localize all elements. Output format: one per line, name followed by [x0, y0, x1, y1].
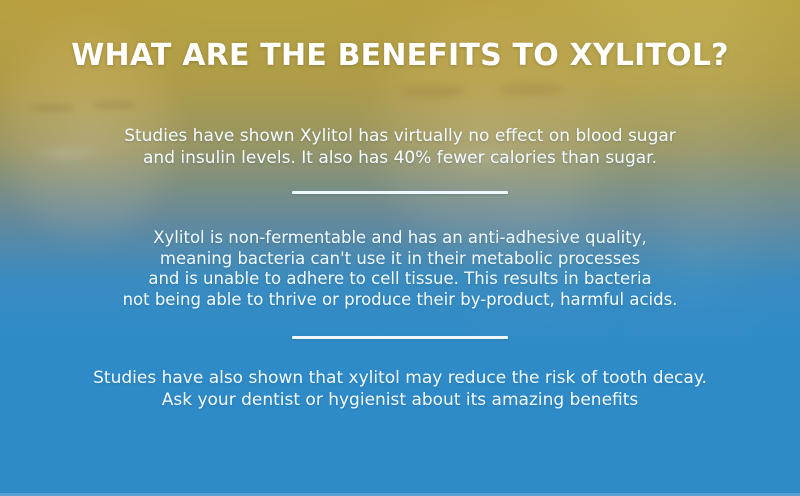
paragraph-line: Xylitol is non-fermentable and has an an… — [0, 228, 800, 249]
slide-content: WHAT ARE THE BENEFITS TO XYLITOL? Studie… — [0, 0, 800, 496]
paragraph-blood-sugar: Studies have shown Xylitol has virtually… — [0, 125, 800, 169]
divider-rule-top — [292, 191, 508, 194]
paragraph-line: Ask your dentist or hygienist about its … — [0, 389, 800, 411]
divider-rule-bottom — [292, 336, 508, 339]
paragraph-line: and insulin levels. It also has 40% fewe… — [0, 147, 800, 169]
paragraph-line: and is unable to adhere to cell tissue. … — [0, 269, 800, 290]
xylitol-benefits-slide: WHAT ARE THE BENEFITS TO XYLITOL? Studie… — [0, 0, 800, 496]
paragraph-anti-adhesive: Xylitol is non-fermentable and has an an… — [0, 228, 800, 310]
page-title: WHAT ARE THE BENEFITS TO XYLITOL? — [0, 38, 800, 74]
paragraph-tooth-decay: Studies have also shown that xylitol may… — [0, 367, 800, 411]
paragraph-line: meaning bacteria can't use it in their m… — [0, 249, 800, 270]
paragraph-line: Studies have also shown that xylitol may… — [0, 367, 800, 389]
paragraph-line: Studies have shown Xylitol has virtually… — [0, 125, 800, 147]
paragraph-line: not being able to thrive or produce thei… — [0, 290, 800, 311]
